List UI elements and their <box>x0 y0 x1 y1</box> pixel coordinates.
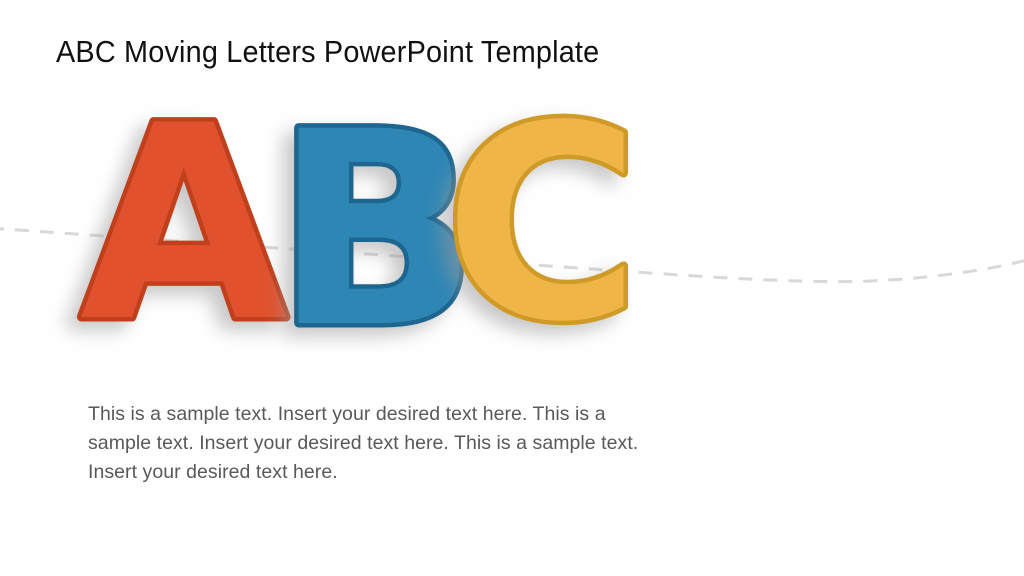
abc-letter-group: A B <box>0 0 1024 576</box>
slide-canvas: ABC Moving Letters PowerPoint Template A <box>0 0 1024 576</box>
body-paragraph: This is a sample text. Insert your desir… <box>88 400 654 487</box>
page-title: ABC Moving Letters PowerPoint Template <box>56 34 599 70</box>
letter-c-glyph: C <box>444 69 641 381</box>
letter-a-glyph: A <box>80 69 289 381</box>
letter-c-graphic[interactable]: C <box>438 112 673 342</box>
